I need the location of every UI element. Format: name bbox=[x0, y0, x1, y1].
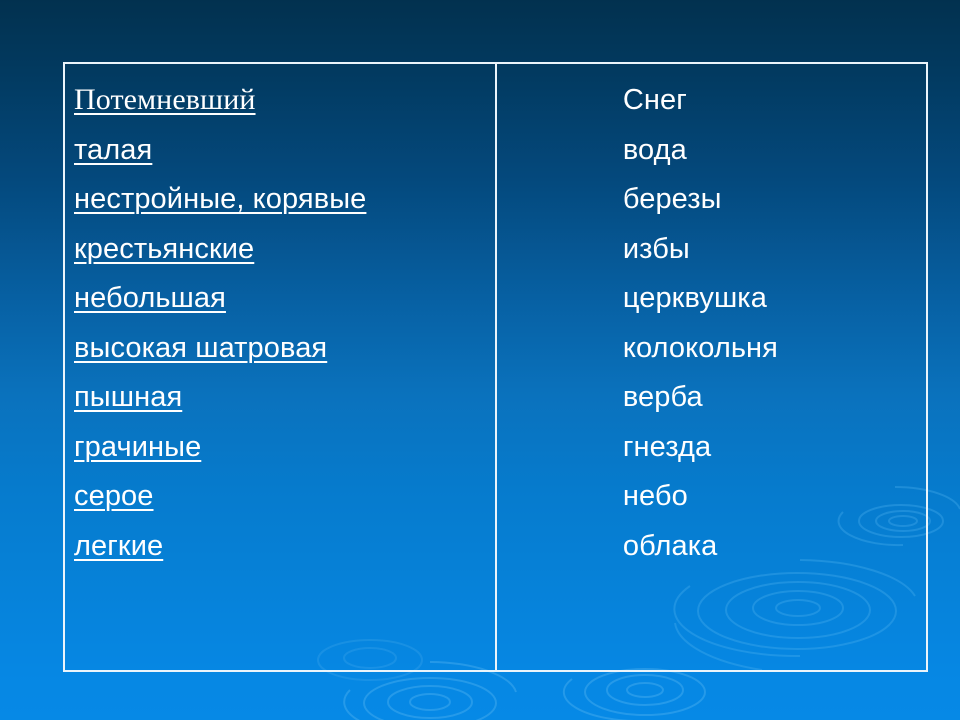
table-cell-noun: гнезда bbox=[623, 423, 926, 473]
table-cell-noun: Снег bbox=[623, 76, 926, 126]
word-pairs-table: Потемневший талая нестройные, корявые кр… bbox=[63, 62, 928, 672]
table-cell-adjective: пышная bbox=[74, 373, 495, 423]
table-cell-adjective: легкие bbox=[74, 522, 495, 572]
table-cell-noun: березы bbox=[623, 175, 926, 225]
table-cell-noun: облака bbox=[623, 522, 926, 572]
presentation-slide: Потемневший талая нестройные, корявые кр… bbox=[0, 0, 960, 720]
table-cell-adjective: нестройные, корявые bbox=[74, 175, 495, 225]
table-cell-noun: колокольня bbox=[623, 324, 926, 374]
table-cell-adjective: талая bbox=[74, 126, 495, 176]
table-cell-noun: верба bbox=[623, 373, 926, 423]
table-cell-adjective: серое bbox=[74, 472, 495, 522]
table-cell-noun: избы bbox=[623, 225, 926, 275]
table-cell-adjective: небольшая bbox=[74, 274, 495, 324]
table-cell-adjective: высокая шатровая bbox=[74, 324, 495, 374]
table-column-nouns: Снег вода березы избы церквушка колоколь… bbox=[497, 64, 926, 670]
table-cell-adjective: грачиные bbox=[74, 423, 495, 473]
table-cell-adjective: Потемневший bbox=[74, 76, 495, 126]
table-column-adjectives: Потемневший талая нестройные, корявые кр… bbox=[65, 64, 497, 670]
table-cell-adjective: крестьянские bbox=[74, 225, 495, 275]
table-cell-noun: вода bbox=[623, 126, 926, 176]
table-cell-noun: церквушка bbox=[623, 274, 926, 324]
table-cell-noun: небо bbox=[623, 472, 926, 522]
